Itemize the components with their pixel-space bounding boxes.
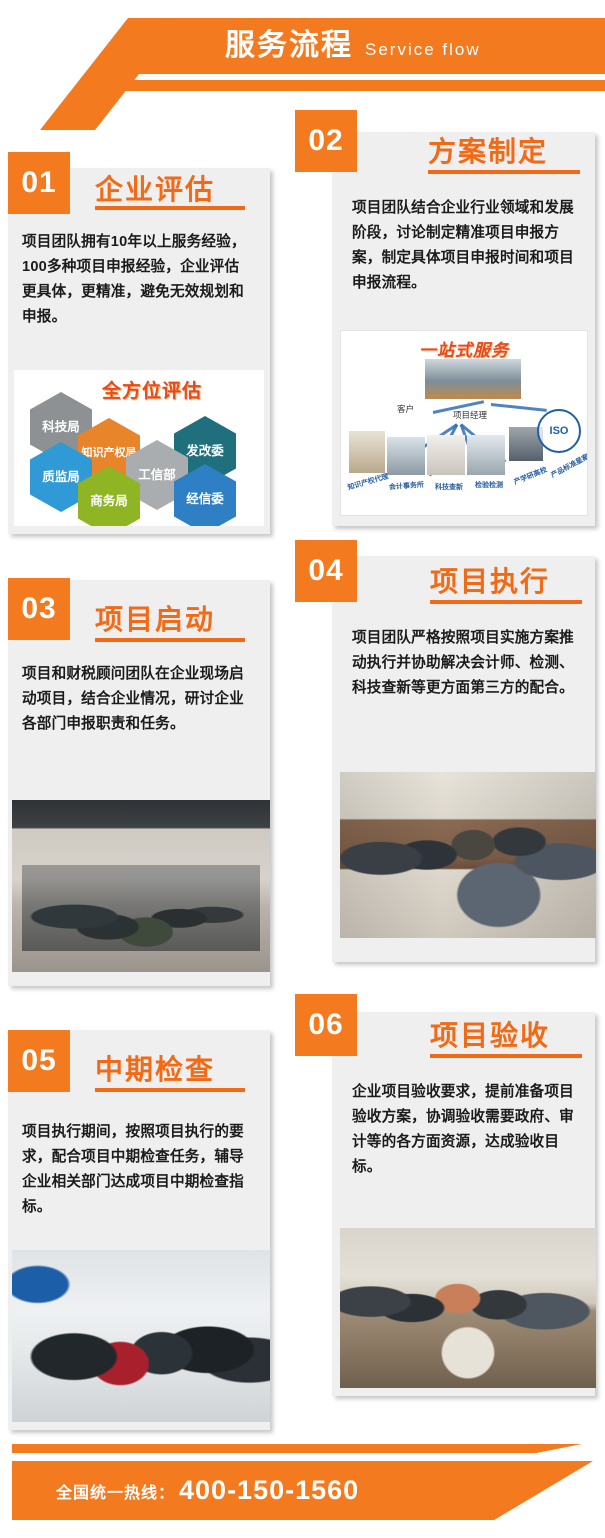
step-title-rule-02 [428, 170, 580, 174]
step-title-rule-06 [430, 1054, 582, 1058]
photo-lobby-visit [12, 1250, 270, 1422]
step-badge-06: 06 [295, 994, 357, 1056]
step-title-03: 项目启动 [95, 598, 215, 638]
step-badge-03: 03 [8, 578, 70, 640]
step-media-03 [12, 800, 270, 972]
onestop-label-ip-agency: 知识产权代理 [346, 471, 389, 492]
step-body-02: 项目团队结合企业行业领域和发展阶段，讨论制定精准项目申报方案，制定具体项目申报时… [352, 196, 580, 296]
step-title-02: 方案制定 [428, 130, 548, 170]
photo-conference-room [12, 800, 270, 972]
step-title-04: 项目执行 [430, 560, 550, 600]
page-title: 服务流程 [225, 24, 353, 68]
step-body-01: 项目团队拥有10年以上服务经验，100多种项目申报经验，企业评估更具体，更精准，… [22, 230, 248, 330]
step-title-rule-03 [95, 638, 245, 642]
step-badge-05: 05 [8, 1030, 70, 1092]
onestop-label-university: 产学研高校 [512, 465, 548, 487]
photo-meeting-table [340, 772, 596, 938]
step-title-rule-04 [430, 600, 582, 604]
footer-accent-line [12, 1444, 582, 1453]
onestop-label-sci-search: 科技查新 [435, 482, 463, 492]
onestop-arrow-6 [491, 403, 547, 412]
onestop-thumb-2 [387, 437, 425, 475]
service-flow-infographic: 服务流程 Service flow 01 企业评估 项目团队拥有10年以上服务经… [0, 0, 605, 1538]
step-body-05: 项目执行期间，按照项目执行的要求，配合项目中期检查任务，辅导企业相关部门达成项目… [22, 1120, 248, 1220]
header-title-group: 服务流程 Service flow [225, 24, 481, 68]
step-body-03: 项目和财税顾问团队在企业现场启动项目，结合企业情况，研讨企业各部门申报职责和任务… [22, 662, 248, 737]
step-media-02: 一站式服务 客户 项目经理 ISO 知识产权代理 会计事务所 科技查新 检验检测… [340, 330, 588, 516]
onestop-title: 一站式服务 [341, 336, 587, 361]
onestop-node-customer: 客户 [397, 403, 414, 415]
hex-diagram-title: 全方位评估 [102, 376, 202, 403]
step-media-06 [340, 1228, 596, 1388]
step-body-04: 项目团队严格按照项目实施方案推动执行并协助解决会计师、检测、科技查新等更方面第三… [352, 626, 580, 701]
onestop-label-accounting: 会计事务所 [389, 480, 425, 492]
step-title-06: 项目验收 [430, 1014, 550, 1054]
onestop-label-product-standard: 产品标准星案 [549, 452, 588, 481]
onestop-node-manager: 项目经理 [453, 409, 487, 421]
step-badge-02: 02 [295, 110, 357, 172]
header-banner: 服务流程 Service flow [0, 0, 605, 120]
step-title-rule-05 [95, 1088, 245, 1092]
onestop-thumb-1 [349, 431, 385, 473]
onestop-label-inspection: 检验检测 [475, 480, 503, 490]
onestop-iso-seal: ISO [537, 409, 581, 453]
step-media-04 [340, 772, 596, 938]
step-media-01: 全方位评估 科技局 知识产权局 发改委 质监局 工信部 商务局 经信委 [14, 370, 264, 526]
step-body-06: 企业项目验收要求，提前准备项目验收方案，协调验收需要政府、审计等的各方面资源，达… [352, 1080, 580, 1180]
onestop-thumb-3 [427, 435, 465, 475]
step-title-05: 中期检查 [95, 1048, 215, 1088]
step-title-01: 企业评估 [95, 168, 215, 208]
step-badge-01: 01 [8, 152, 70, 214]
step-media-05 [12, 1250, 270, 1422]
photo-boardroom [340, 1228, 596, 1388]
step-title-rule-01 [95, 206, 245, 210]
onestop-thumb-4 [467, 435, 505, 475]
footer-hotline-label: 全国统一热线： [56, 1479, 175, 1503]
footer-hotline-number[interactable]: 400-150-1560 [179, 1475, 359, 1506]
page-subtitle: Service flow [365, 40, 481, 60]
onestop-center-photo [425, 359, 521, 399]
step-badge-04: 04 [295, 540, 357, 602]
footer-hotline-group: 全国统一热线： 400-150-1560 [56, 1461, 359, 1520]
